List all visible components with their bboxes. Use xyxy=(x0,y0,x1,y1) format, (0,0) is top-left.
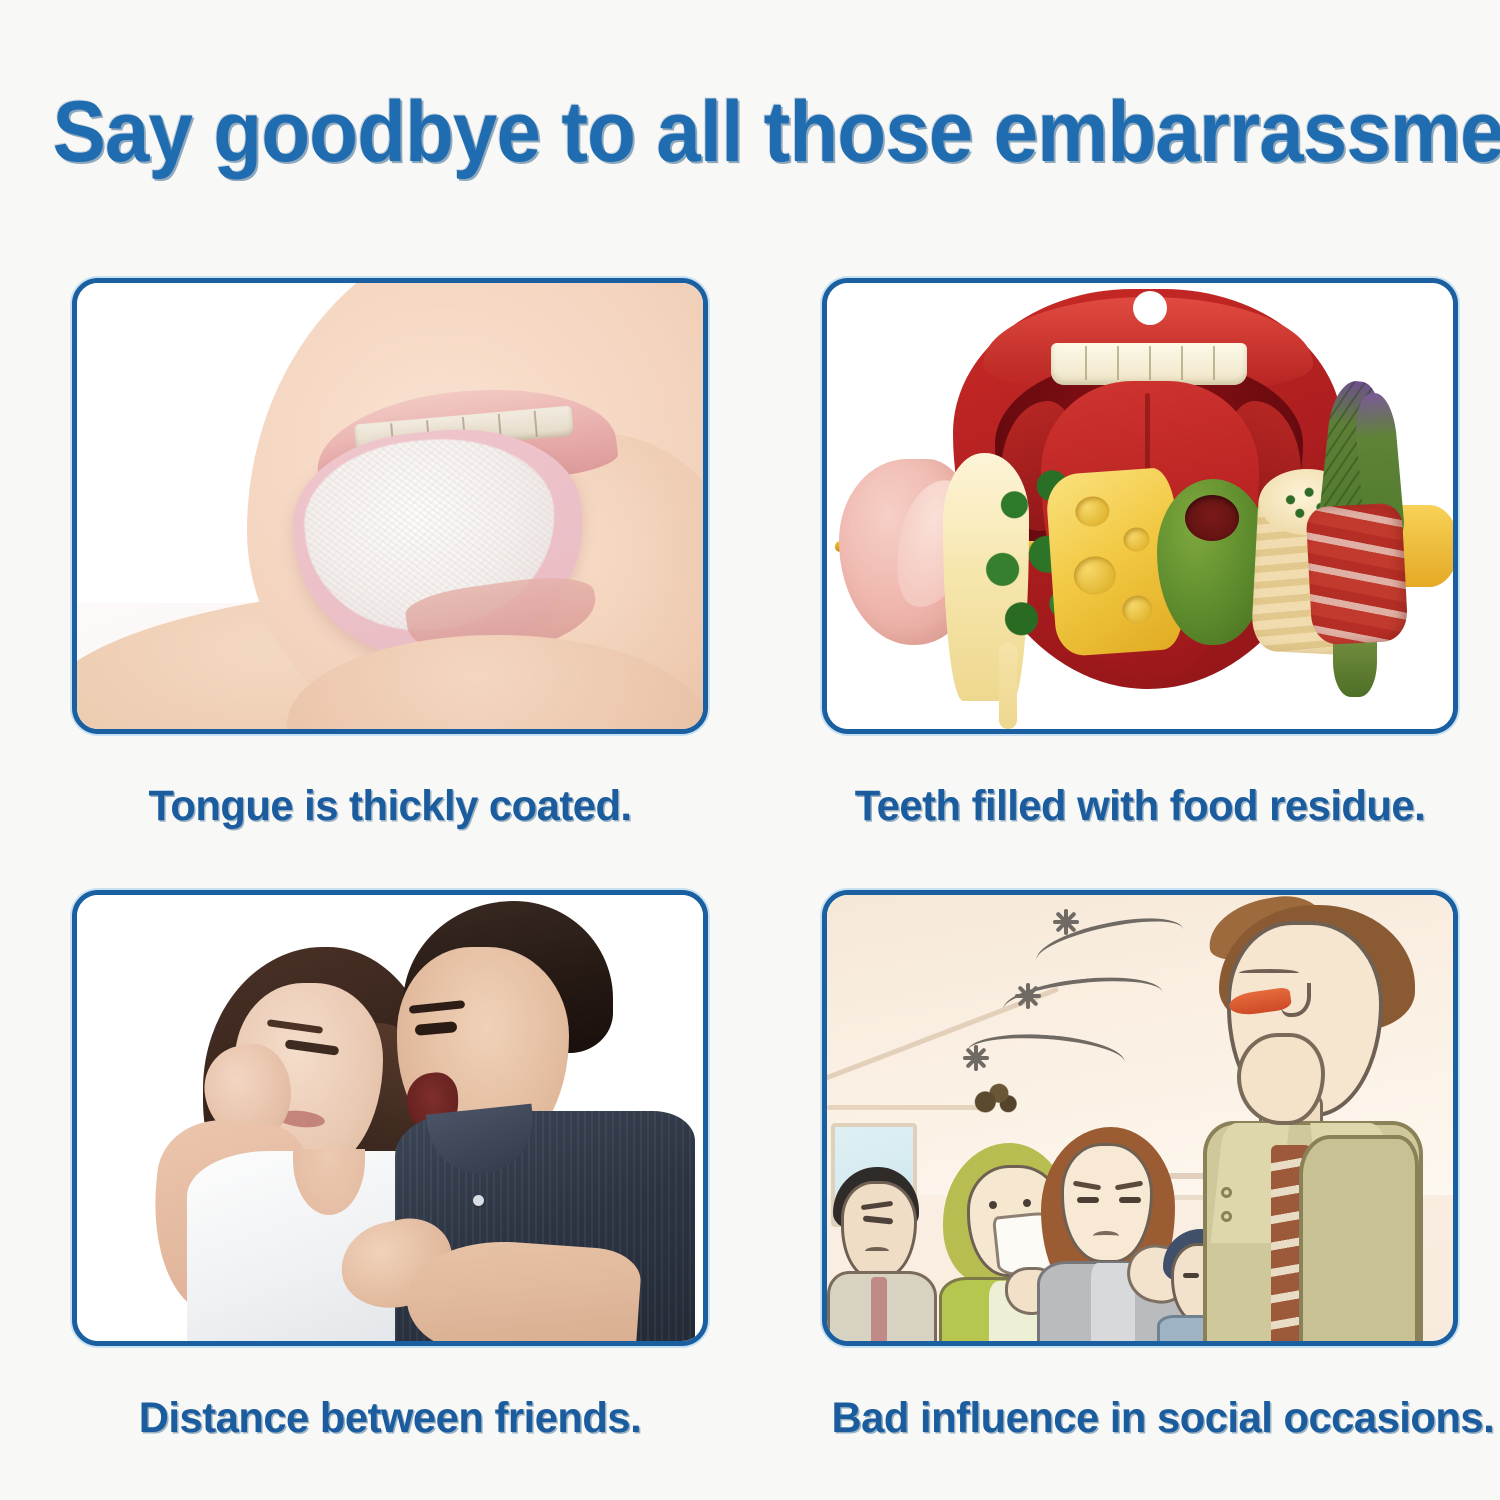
card-frame xyxy=(822,278,1458,734)
food-residue-image xyxy=(827,283,1453,729)
cupid-bow-notch xyxy=(1133,291,1167,325)
colleague-d-eye xyxy=(1183,1273,1199,1278)
stink-sparkle-icon xyxy=(1053,909,1079,935)
sauce-drip xyxy=(999,643,1017,729)
social-occasions-image xyxy=(827,895,1453,1341)
card-caption: Distance between friends. xyxy=(82,1394,699,1442)
card-caption: Tongue is thickly coated. xyxy=(82,782,699,830)
card-food-residue[interactable]: Teeth filled with food residue. xyxy=(822,278,1458,830)
colleague-a-frown xyxy=(865,1247,889,1255)
infographic-page: Say goodbye to all those embarrassment xyxy=(0,0,1500,1500)
bad-breath-man-arm xyxy=(1299,1135,1419,1346)
colleague-a-face xyxy=(841,1181,917,1279)
card-frame xyxy=(72,890,708,1346)
distance-friends-image xyxy=(77,895,703,1341)
card-tongue-coated[interactable]: Tongue is thickly coated. xyxy=(72,278,708,830)
card-caption: Bad influence in social occasions. xyxy=(832,1394,1449,1442)
card-distance-friends[interactable]: Distance between friends. xyxy=(72,890,708,1442)
colleague-b-eye xyxy=(1023,1199,1031,1207)
upper-teeth xyxy=(1051,343,1247,385)
skewer-tip-right xyxy=(1397,505,1458,587)
stink-sparkle-icon xyxy=(963,1045,989,1071)
bad-breath-man-button xyxy=(1221,1211,1232,1222)
card-social-occasions[interactable]: Bad influence in social occasions. xyxy=(822,890,1458,1442)
card-caption: Teeth filled with food residue. xyxy=(832,782,1449,830)
page-title: Say goodbye to all those embarrassment xyxy=(53,84,1448,180)
tongue-coated-image xyxy=(77,283,703,729)
bacon-wrap xyxy=(1305,503,1408,646)
colleague-a-tie xyxy=(871,1277,887,1346)
bad-breath-man-eye xyxy=(1239,969,1299,977)
colleague-b-eye xyxy=(989,1201,997,1209)
bad-breath-man-hand-at-mouth xyxy=(1237,1033,1325,1125)
card-frame xyxy=(822,890,1458,1346)
bad-breath-man-button xyxy=(1221,1187,1232,1198)
man-shirt-button xyxy=(473,1195,484,1206)
olive-pimento-hole xyxy=(1185,495,1239,541)
card-frame xyxy=(72,278,708,734)
colleague-c-eye xyxy=(1077,1197,1099,1203)
colleague-c-face xyxy=(1061,1143,1153,1263)
colleague-c-frown xyxy=(1093,1231,1119,1241)
wall-line xyxy=(827,1105,987,1110)
stink-sparkle-icon xyxy=(1015,983,1041,1009)
colleague-c-eye xyxy=(1119,1197,1141,1203)
